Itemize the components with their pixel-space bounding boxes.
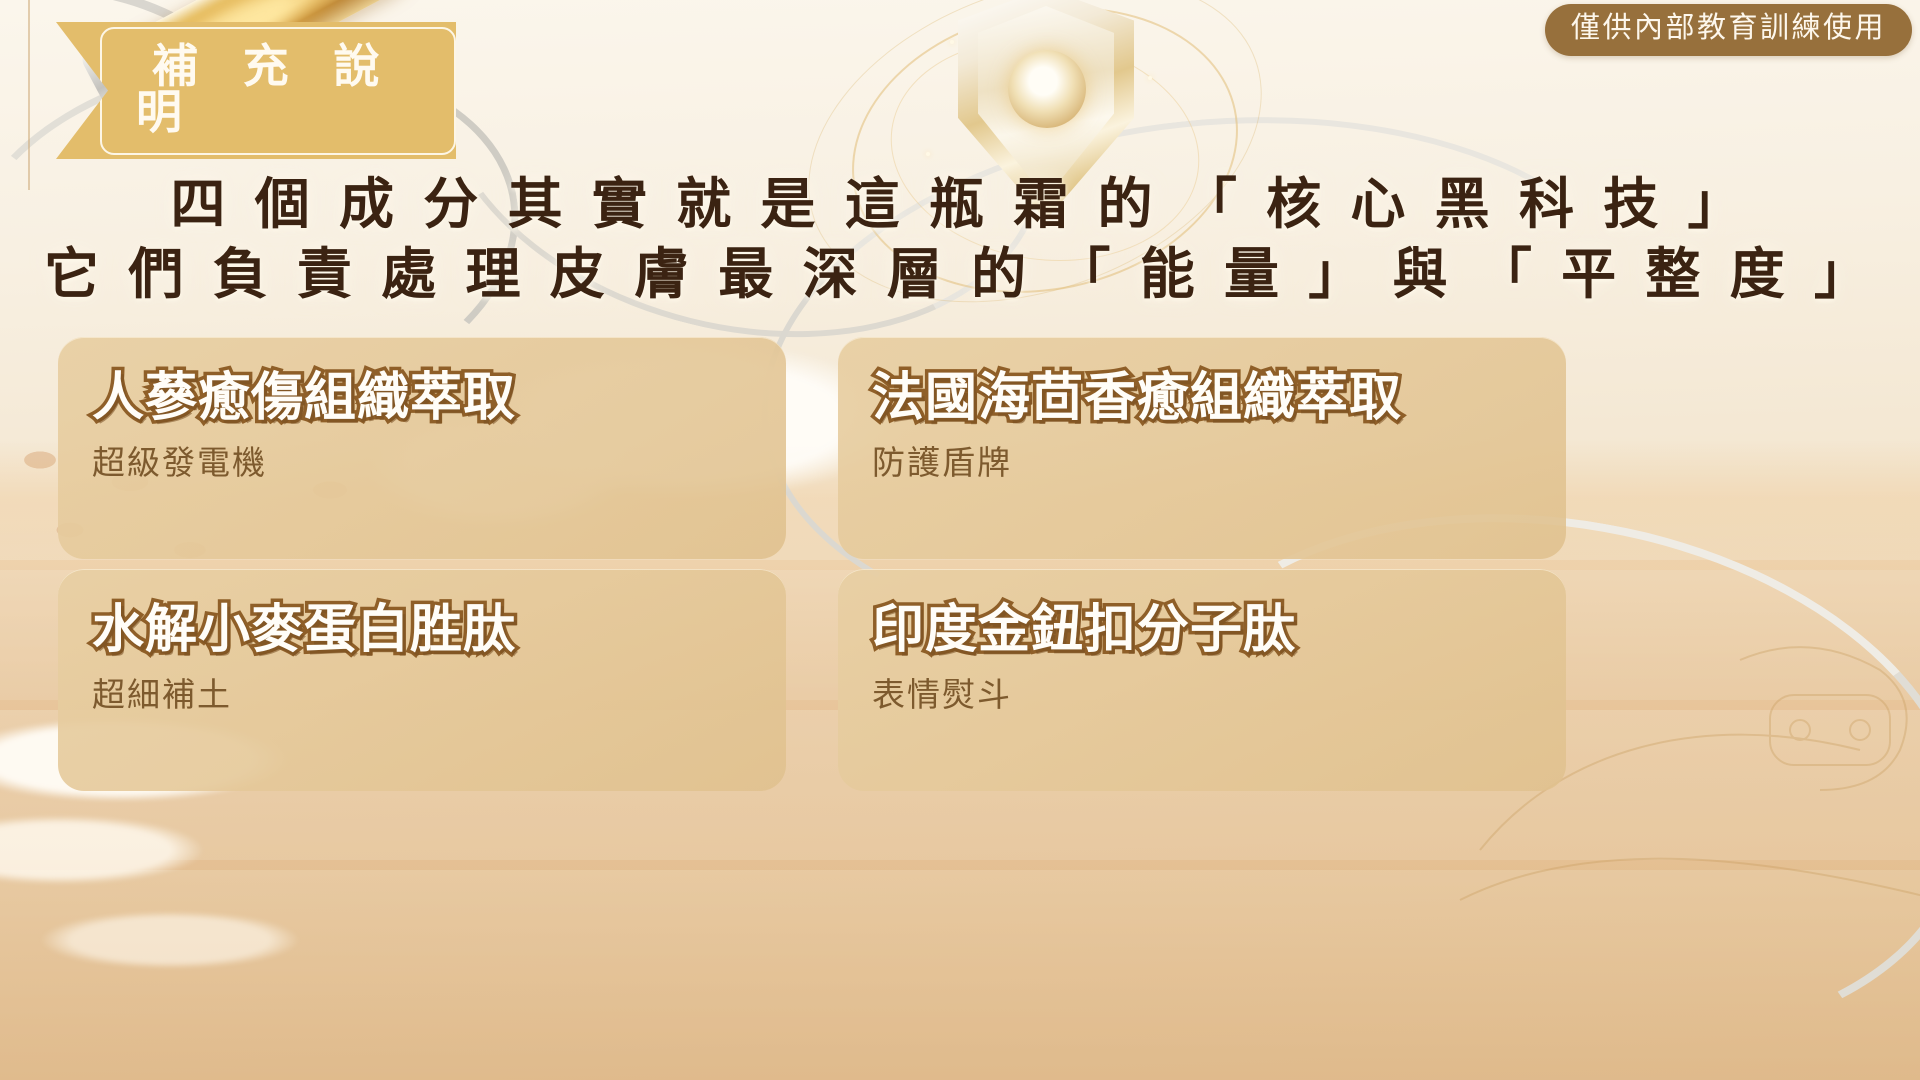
ingredient-title: 印度金鈕扣分子肽 [872, 603, 1532, 658]
section-ribbon: 補 充 說 明 [56, 22, 456, 159]
ingredient-card[interactable]: 印度金鈕扣分子肽 表情熨斗 [838, 569, 1566, 791]
ingredient-title: 人蔘癒傷組織萃取 [92, 371, 752, 426]
headline-block: 四 個 成 分 其 實 就 是 這 瓶 霜 的 「 核 心 黑 科 技 」 它 … [0, 170, 1920, 310]
ribbon-frame: 補 充 說 明 [100, 27, 456, 155]
ingredient-subtitle: 超細補土 [92, 675, 752, 715]
ingredient-title: 法國海茴香癒組織萃取 [872, 371, 1532, 426]
ingredient-subtitle: 表情熨斗 [872, 675, 1532, 715]
slide-canvas: 補 充 說 明 僅供內部教育訓練使用 四 個 成 分 其 實 就 是 這 瓶 霜… [0, 0, 1920, 1080]
ingredient-subtitle: 超級發電機 [92, 443, 752, 483]
internal-use-badge-label: 僅供內部教育訓練使用 [1571, 14, 1886, 43]
ribbon-label: 補 充 說 明 [136, 43, 420, 135]
ingredient-card[interactable]: 水解小麥蛋白胜肽 超細補土 [58, 569, 786, 791]
ingredient-card[interactable]: 人蔘癒傷組織萃取 超級發電機 [58, 337, 786, 559]
ingredient-card[interactable]: 法國海茴香癒組織萃取 防護盾牌 [838, 337, 1566, 559]
internal-use-badge: 僅供內部教育訓練使用 [1545, 4, 1912, 56]
ingredient-card-grid: 人蔘癒傷組織萃取 超級發電機 法國海茴香癒組織萃取 防護盾牌 水解小麥蛋白胜肽 … [58, 337, 1862, 792]
decorative-vertical-line [28, 0, 30, 190]
headline-line-1: 四 個 成 分 其 實 就 是 這 瓶 霜 的 「 核 心 黑 科 技 」 [0, 170, 1920, 240]
ingredient-subtitle: 防護盾牌 [872, 443, 1532, 483]
ingredient-title: 水解小麥蛋白胜肽 [92, 603, 752, 658]
headline-line-2: 它 們 負 責 處 理 皮 膚 最 深 層 的 「 能 量 」 與 「 平 整 … [0, 240, 1920, 310]
